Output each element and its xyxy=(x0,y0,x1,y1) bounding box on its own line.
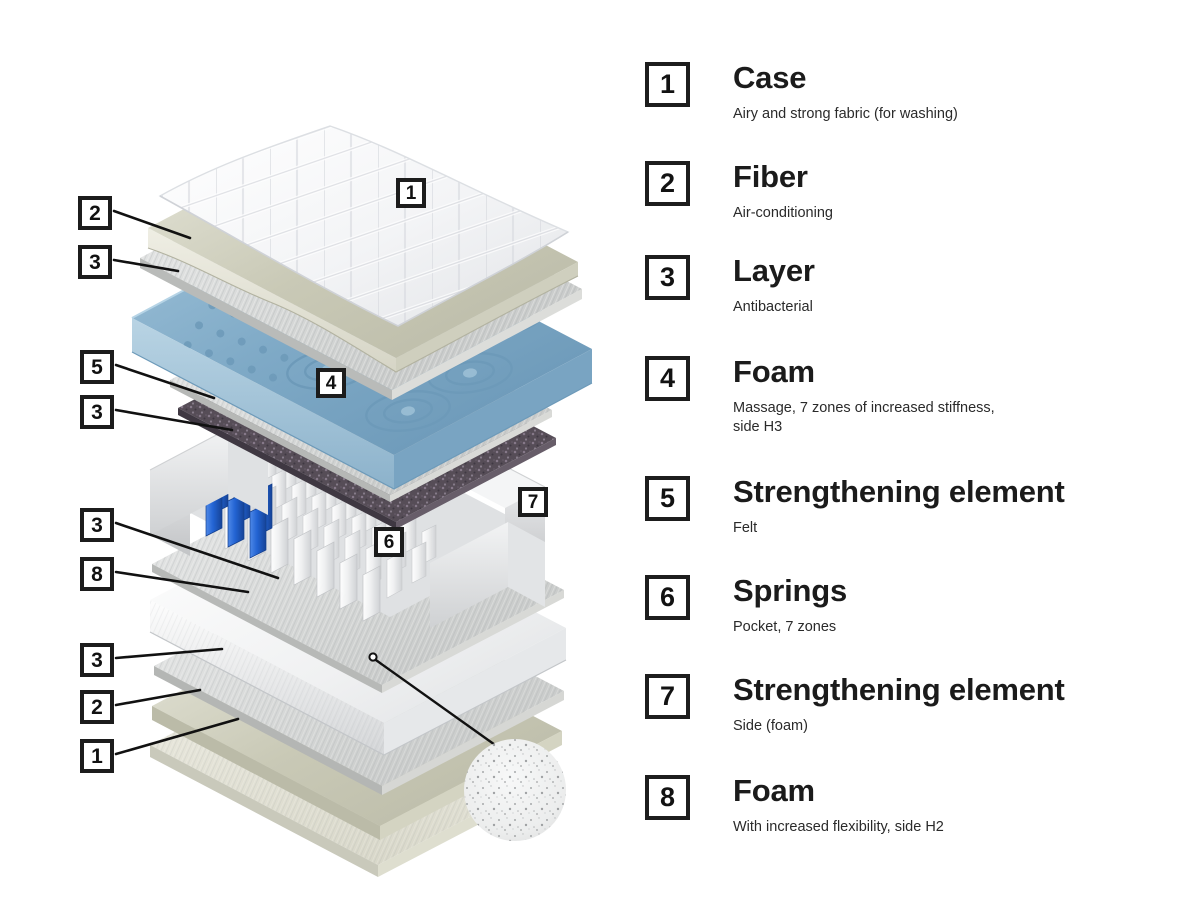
diagram-callout-4-foam: 4 xyxy=(316,368,346,398)
legend-desc-1: Airy and strong fabric (for washing) xyxy=(733,105,958,125)
diagram-callout-8-base: 8 xyxy=(80,557,114,591)
legend-item-3: 3 Layer Antibacterial xyxy=(645,255,815,317)
legend-number-1: 1 xyxy=(645,62,690,107)
legend-desc-4: Massage, 7 zones of increased stiffness,… xyxy=(733,399,995,438)
legend-title-1: Case xyxy=(733,62,958,94)
mattress-exploded-diagram: 2 3 5 3 3 8 3 2 1 1 4 7 6 xyxy=(0,0,640,900)
figure-root: 2 3 5 3 3 8 3 2 1 1 4 7 6 1 Case Airy an… xyxy=(0,0,1200,900)
legend-item-5: 5 Strengthening element Felt xyxy=(645,476,1065,538)
legend-item-1: 1 Case Airy and strong fabric (for washi… xyxy=(645,62,958,124)
legend-list: 1 Case Airy and strong fabric (for washi… xyxy=(645,0,1200,900)
legend-title-4: Foam xyxy=(733,356,995,388)
legend-title-5: Strengthening element xyxy=(733,476,1065,508)
legend-desc-2: Air-conditioning xyxy=(733,204,833,224)
legend-title-7: Strengthening element xyxy=(733,674,1065,706)
diagram-callout-7-frame: 7 xyxy=(518,487,548,517)
diagram-callout-3-top: 3 xyxy=(78,245,112,279)
diagram-callout-1-bottom: 1 xyxy=(80,739,114,773)
diagram-callout-3-springs: 3 xyxy=(80,508,114,542)
diagram-callout-3-bottom: 3 xyxy=(80,643,114,677)
legend-number-7: 7 xyxy=(645,674,690,719)
legend-item-8: 8 Foam With increased flexibility, side … xyxy=(645,775,944,837)
legend-item-2: 2 Fiber Air-conditioning xyxy=(645,161,833,223)
legend-desc-3: Antibacterial xyxy=(733,298,815,318)
legend-item-6: 6 Springs Pocket, 7 zones xyxy=(645,575,847,637)
legend-number-5: 5 xyxy=(645,476,690,521)
legend-number-8: 8 xyxy=(645,775,690,820)
diagram-callout-2-top: 2 xyxy=(78,196,112,230)
legend-title-3: Layer xyxy=(733,255,815,287)
legend-desc-7: Side (foam) xyxy=(733,717,1065,737)
legend-title-6: Springs xyxy=(733,575,847,607)
legend-number-4: 4 xyxy=(645,356,690,401)
diagram-callout-3-mid: 3 xyxy=(80,395,114,429)
legend-title-8: Foam xyxy=(733,775,944,807)
legend-desc-5: Felt xyxy=(733,519,1065,539)
diagram-callout-2-bottom: 2 xyxy=(80,690,114,724)
diagram-callout-6-springs: 6 xyxy=(374,527,404,557)
legend-item-4: 4 Foam Massage, 7 zones of increased sti… xyxy=(645,356,995,438)
legend-desc-6: Pocket, 7 zones xyxy=(733,618,847,638)
diagram-callout-5-felt: 5 xyxy=(80,350,114,384)
legend-number-6: 6 xyxy=(645,575,690,620)
legend-title-2: Fiber xyxy=(733,161,833,193)
legend-number-2: 2 xyxy=(645,161,690,206)
legend-item-7: 7 Strengthening element Side (foam) xyxy=(645,674,1065,736)
legend-number-3: 3 xyxy=(645,255,690,300)
legend-desc-8: With increased flexibility, side H2 xyxy=(733,818,944,838)
diagram-callout-1-case: 1 xyxy=(396,178,426,208)
